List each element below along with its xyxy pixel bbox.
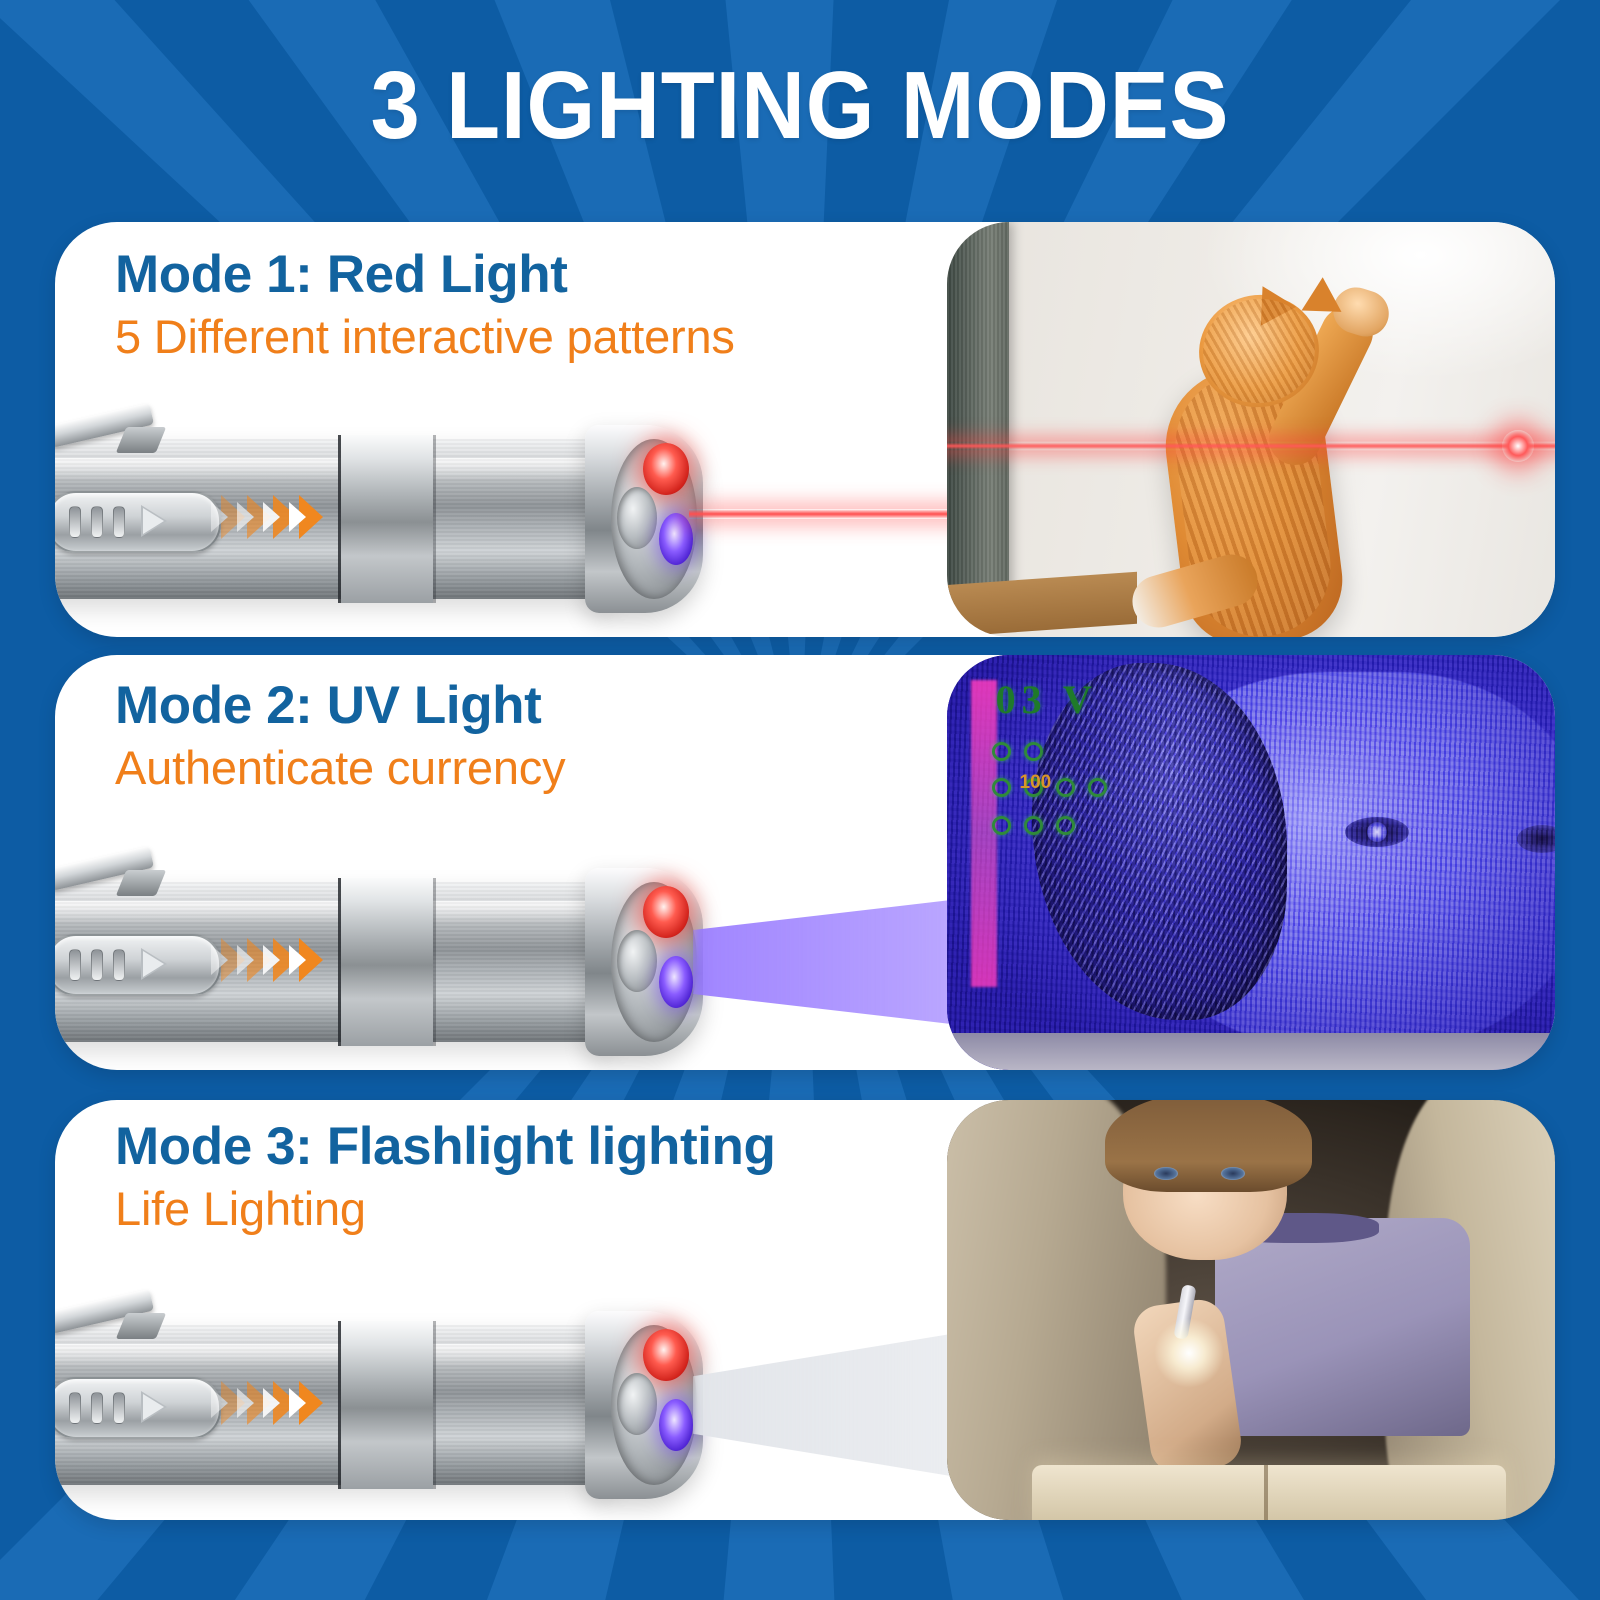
mode-1-title: Mode 1: Red Light xyxy=(115,244,735,307)
white-flashlight-led-icon xyxy=(617,930,657,992)
banknote-serial-text: 03 V xyxy=(996,676,1098,723)
pocket-clip-icon xyxy=(55,1295,153,1343)
mode-3-heading-block: Mode 3: Flashlight lighting Life Lightin… xyxy=(115,1116,775,1237)
flashlight-illustration-2 xyxy=(55,852,715,1070)
uv-led-icon xyxy=(659,513,693,565)
play-triangle-icon xyxy=(141,505,167,537)
banknote-denomination-text: 100 xyxy=(1020,772,1052,794)
red-laser-led-icon xyxy=(643,1329,689,1381)
flashlight-bezel xyxy=(585,425,703,613)
chevron-arrows-icon xyxy=(221,938,323,982)
red-laser-led-icon xyxy=(643,886,689,938)
uv-led-icon xyxy=(659,1399,693,1451)
orange-cat xyxy=(1137,283,1407,637)
chevron-arrows-icon xyxy=(221,495,323,539)
mode-3-subtitle: Life Lighting xyxy=(115,1181,775,1237)
mode-2-photo: 03 V 100 xyxy=(947,655,1555,1070)
slider-switch xyxy=(55,1377,221,1439)
uv-banknote-photo: 03 V 100 xyxy=(947,655,1555,1070)
white-flashlight-led-icon xyxy=(617,487,657,549)
play-triangle-icon xyxy=(141,1391,167,1423)
flashlight-ring-band xyxy=(341,435,433,603)
slider-switch xyxy=(55,934,221,996)
laser-dot xyxy=(1502,430,1534,462)
page-title: 3 LIGHTING MODES xyxy=(64,58,1536,154)
flashlight-bezel xyxy=(585,1311,703,1499)
slider-switch xyxy=(55,491,221,553)
mode-2-subtitle: Authenticate currency xyxy=(115,740,565,796)
mode-card-2: Mode 2: UV Light Authenticate currency xyxy=(55,655,1555,1070)
flashlight-illustration-1 xyxy=(55,409,715,637)
play-triangle-icon xyxy=(141,948,167,980)
mode-3-photo xyxy=(947,1100,1555,1520)
mode-card-3: Mode 3: Flashlight lighting Life Lightin… xyxy=(55,1100,1555,1520)
open-book xyxy=(1032,1465,1506,1520)
flashlight-illustration-3 xyxy=(55,1295,715,1520)
mode-1-heading-block: Mode 1: Red Light 5 Different interactiv… xyxy=(115,244,735,365)
mode-card-1: Mode 1: Red Light 5 Different interactiv… xyxy=(55,222,1555,637)
mode-2-title: Mode 2: UV Light xyxy=(115,675,565,738)
mode-1-photo xyxy=(947,222,1555,637)
white-flashlight-led-icon xyxy=(617,1373,657,1435)
flashlight-ring-band xyxy=(341,1321,433,1489)
red-laser-led-icon xyxy=(643,443,689,495)
pocket-clip-icon xyxy=(55,409,153,457)
laser-beam-overlay xyxy=(947,442,1555,450)
uv-led-icon xyxy=(659,956,693,1008)
mode-3-title: Mode 3: Flashlight lighting xyxy=(115,1116,775,1179)
mode-2-heading-block: Mode 2: UV Light Authenticate currency xyxy=(115,675,565,796)
girl-reading-with-flashlight-photo xyxy=(947,1100,1555,1520)
banknote-dot-pattern: 100 xyxy=(990,738,1120,868)
mode-1-subtitle: 5 Different interactive patterns xyxy=(115,309,735,365)
cat-chasing-laser-dot-photo xyxy=(947,222,1555,637)
flashlight-ring-band xyxy=(341,878,433,1046)
chevron-arrows-icon xyxy=(221,1381,323,1425)
curtain xyxy=(947,222,1009,604)
pocket-clip-icon xyxy=(55,852,153,900)
flashlight-bezel xyxy=(585,868,703,1056)
